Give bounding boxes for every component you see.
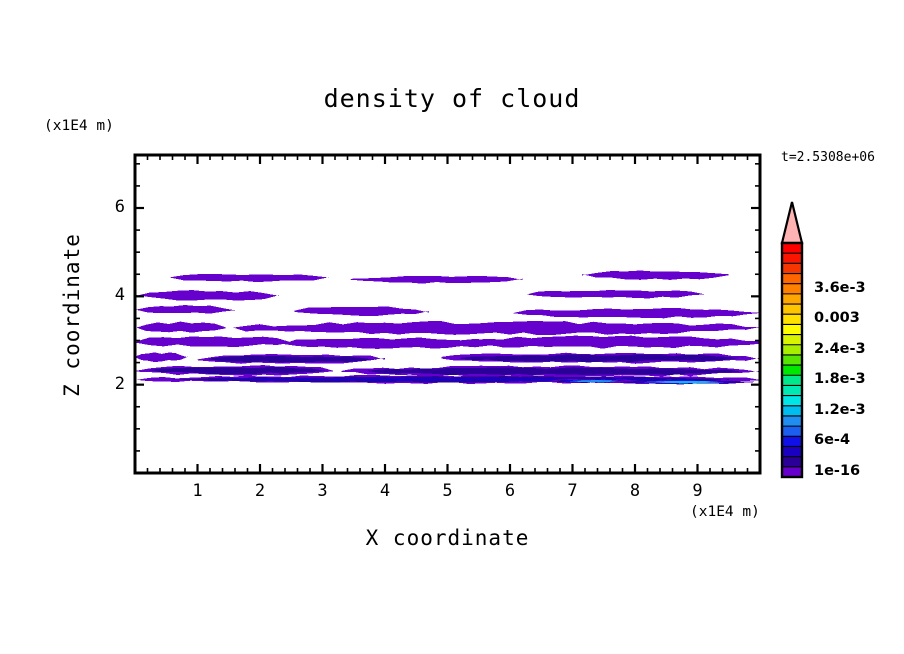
x-tick-label: 6 bbox=[495, 481, 525, 501]
contour-plot-figure: density of cloud (x1E4 m) t=2.5308e+06 X… bbox=[0, 0, 904, 654]
x-tick-label: 2 bbox=[245, 481, 275, 501]
label-layer: 1234567892463.6e-30.0032.4e-31.8e-31.2e-… bbox=[0, 0, 904, 654]
colorbar-tick-label: 3.6e-3 bbox=[814, 280, 866, 296]
colorbar-tick-label: 6e-4 bbox=[814, 432, 850, 448]
x-tick-label: 1 bbox=[183, 481, 213, 501]
x-tick-label: 7 bbox=[558, 481, 588, 501]
x-tick-label: 3 bbox=[308, 481, 338, 501]
x-tick-label: 4 bbox=[370, 481, 400, 501]
colorbar-tick-label: 0.003 bbox=[814, 310, 860, 326]
x-tick-label: 9 bbox=[683, 481, 713, 501]
colorbar-tick-label: 1.8e-3 bbox=[814, 371, 866, 387]
y-tick-label: 2 bbox=[95, 374, 125, 394]
y-tick-label: 4 bbox=[95, 285, 125, 305]
colorbar-tick-label: 2.4e-3 bbox=[814, 341, 866, 357]
y-tick-label: 6 bbox=[95, 197, 125, 217]
colorbar-tick-label: 1e-16 bbox=[814, 463, 860, 479]
x-tick-label: 5 bbox=[433, 481, 463, 501]
colorbar-tick-label: 1.2e-3 bbox=[814, 402, 866, 418]
x-tick-label: 8 bbox=[620, 481, 650, 501]
